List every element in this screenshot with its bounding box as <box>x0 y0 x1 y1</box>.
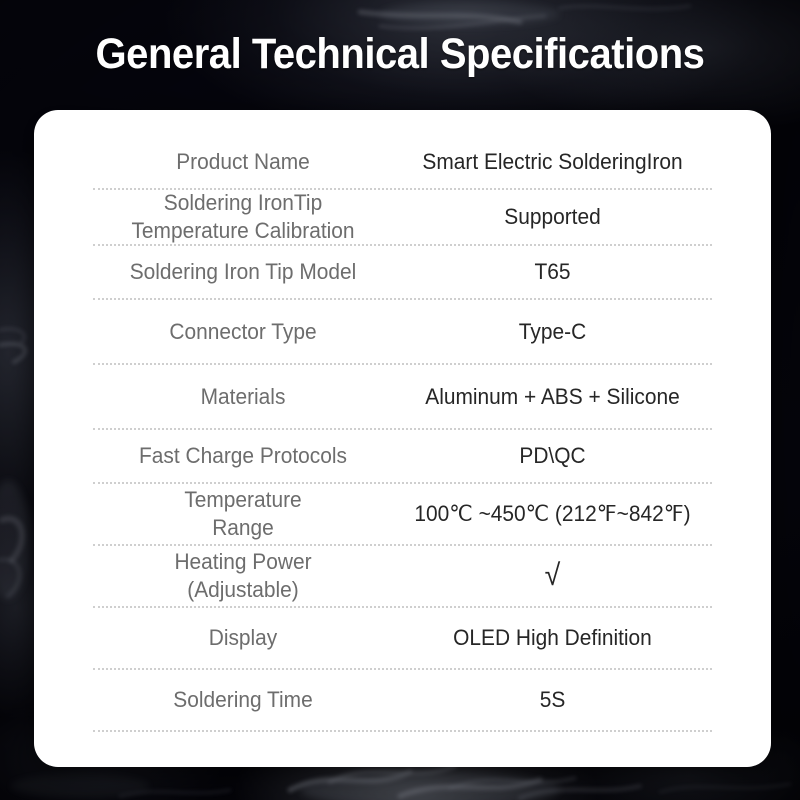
spec-label: Fast Charge Protocols <box>101 436 386 476</box>
spec-label: Connector Type <box>101 312 386 352</box>
table-row: Soldering Time 5S <box>93 670 712 732</box>
spec-value: 5S <box>401 680 704 720</box>
spec-value: T65 <box>401 252 704 292</box>
spec-label: Soldering IronTip Temperature Calibratio… <box>101 183 386 251</box>
spec-label: Materials <box>101 377 386 417</box>
spec-label: Soldering Iron Tip Model <box>101 252 386 292</box>
specifications-table: Product Name Smart Electric SolderingIro… <box>34 110 771 767</box>
spec-label: Temperature Range <box>101 480 386 548</box>
table-row: Heating Power (Adjustable) √ <box>93 546 712 608</box>
table-row: Soldering IronTip Temperature Calibratio… <box>93 190 712 246</box>
spec-value: PD\QC <box>401 436 704 476</box>
spec-label: Heating Power (Adjustable) <box>101 542 386 610</box>
checkmark-icon: √ <box>401 555 704 597</box>
spec-label: Soldering Time <box>101 680 386 720</box>
table-row: Display OLED High Definition <box>93 608 712 670</box>
spec-value: Supported <box>401 197 704 237</box>
table-row: Temperature Range 100℃ ~450℃ (212℉~842℉) <box>93 484 712 546</box>
table-row: Fast Charge Protocols PD\QC <box>93 430 712 484</box>
specifications-card: Product Name Smart Electric SolderingIro… <box>34 110 771 767</box>
table-footer-spacer <box>93 732 712 767</box>
table-row: Materials Aluminum + ABS + Silicone <box>93 365 712 430</box>
page-root: General Technical Specifications Product… <box>0 0 800 800</box>
table-row: Product Name Smart Electric SolderingIro… <box>93 136 712 190</box>
spec-value: Smart Electric SolderingIron <box>401 142 704 182</box>
spec-label: Display <box>101 618 386 658</box>
spec-value: Aluminum + ABS + Silicone <box>401 377 704 417</box>
spec-label: Product Name <box>101 142 386 182</box>
spec-value: OLED High Definition <box>401 618 704 658</box>
spec-value: 100℃ ~450℃ (212℉~842℉) <box>401 494 704 534</box>
table-row: Connector Type Type-C <box>93 300 712 365</box>
table-row: Soldering Iron Tip Model T65 <box>93 246 712 300</box>
page-title: General Technical Specifications <box>28 26 772 82</box>
spec-value: Type-C <box>401 312 704 352</box>
